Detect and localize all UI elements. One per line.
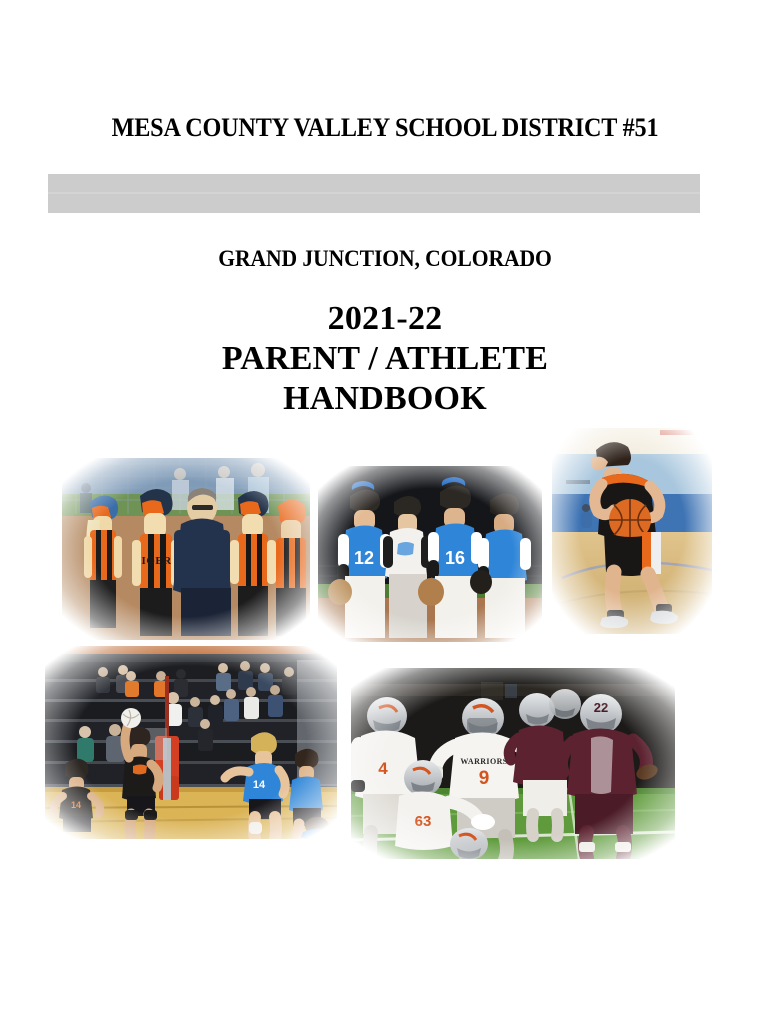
photo-softball-team-huddle: TIGERS (62, 458, 310, 640)
photo-basketball-player: GJ (552, 428, 712, 634)
grey-divider-bar (48, 174, 700, 213)
title-line-1: PARENT / ATHLETE (0, 339, 770, 379)
district-title: MESA COUNTY VALLEY SCHOOL DISTRICT #51 (27, 113, 743, 143)
page-title: 2021-22 PARENT / ATHLETE HANDBOOK (0, 299, 770, 419)
photo-football-game: 4 WARRIORS 9 (351, 668, 675, 859)
title-line-2: HANDBOOK (0, 379, 770, 419)
photo-softball-pitchers-circle: 12 16 (318, 466, 542, 642)
city-state-title: GRAND JUNCTION, COLORADO (23, 245, 747, 273)
handbook-cover-page: MESA COUNTY VALLEY SCHOOL DISTRICT #51 G… (0, 0, 770, 1024)
title-year-line: 2021-22 (0, 299, 770, 339)
grey-divider-seam (48, 192, 700, 194)
photo-volleyball-match: 14 14 (45, 646, 337, 839)
